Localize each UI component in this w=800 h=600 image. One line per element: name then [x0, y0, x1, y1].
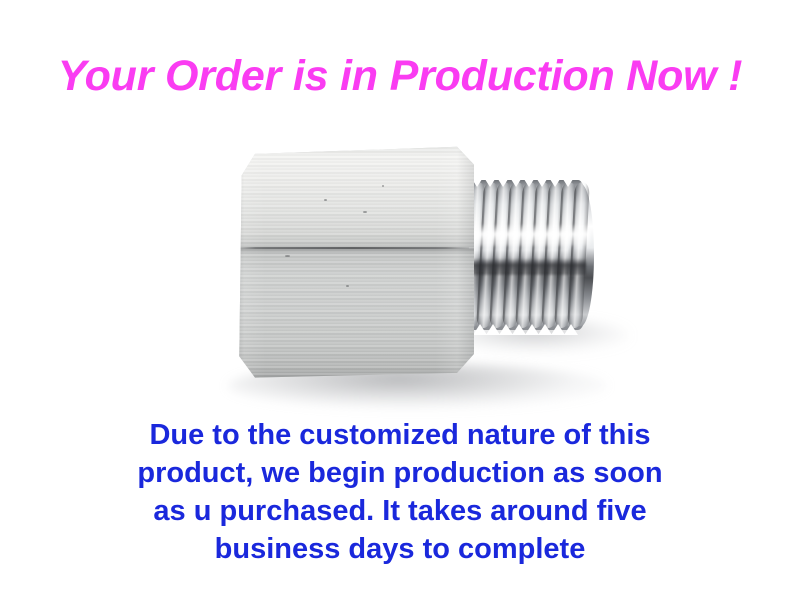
surface-blemish — [346, 285, 349, 287]
thread-notch — [522, 176, 536, 187]
thread-notch — [509, 176, 523, 187]
page-title: Your Order is in Production Now ! — [0, 50, 800, 102]
thread-notch — [499, 324, 513, 335]
notice-line: product, we begin production as soon — [0, 454, 800, 492]
thread-notch — [538, 324, 552, 335]
promo-banner: Your Order is in Production Now ! — [0, 0, 800, 600]
hex-side-shading — [232, 142, 474, 380]
thread-notch — [486, 324, 500, 335]
hex-body — [232, 142, 474, 380]
notice-line: business days to complete — [0, 530, 800, 568]
notice-line: Due to the customized nature of this — [0, 416, 800, 454]
thread-notch — [548, 176, 562, 187]
thread-notch — [473, 324, 487, 335]
surface-blemish — [363, 211, 367, 213]
thread-notch — [483, 176, 497, 187]
thread-notch — [535, 176, 549, 187]
thread-notch — [496, 176, 510, 187]
thread-notch — [512, 324, 526, 335]
product-photo — [0, 120, 800, 405]
surface-blemish — [382, 185, 384, 187]
thread-notch — [561, 176, 575, 187]
thread-notch — [564, 324, 578, 335]
thread-notch — [551, 324, 565, 335]
thread-notch — [525, 324, 539, 335]
notice-line: as u purchased. It takes around five — [0, 492, 800, 530]
production-notice: Due to the customized nature of this pro… — [0, 416, 800, 568]
hex-silhouette — [232, 142, 474, 380]
hex-bottom-edge — [244, 378, 462, 380]
thread-specular-highlight — [454, 224, 590, 246]
